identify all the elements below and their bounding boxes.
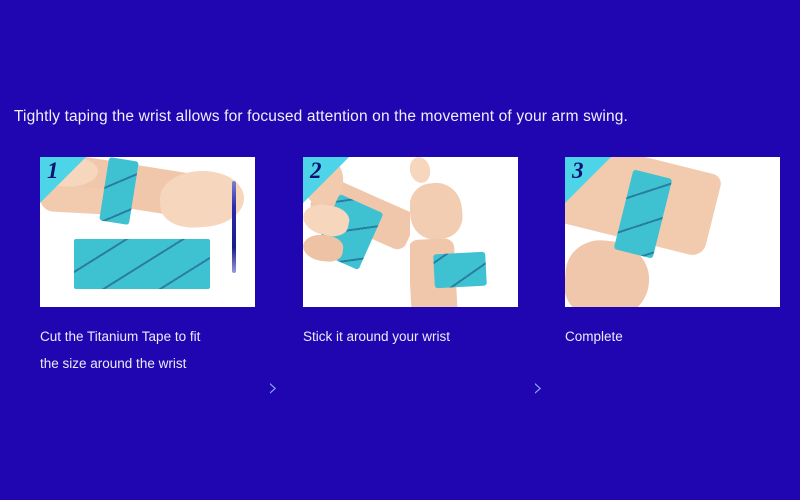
step-2-caption: Stick it around your wrist: [303, 323, 533, 350]
tape-strip-flat: [74, 239, 210, 289]
fist-shape: [410, 180, 465, 241]
step-2-photo-right: [410, 157, 518, 307]
step-strip: 1 Cut the Titanium Tape to fit the size …: [0, 157, 800, 387]
step-3-photo: 3: [565, 157, 780, 307]
chevron-right-icon: ›: [268, 375, 278, 401]
step-1-caption: Cut the Titanium Tape to fit the size ar…: [40, 323, 270, 377]
caption-line: Complete: [565, 323, 795, 350]
step-2-photo-left: [303, 157, 410, 307]
step-3-caption: Complete: [565, 323, 795, 350]
tape-band-on-wrist: [433, 252, 487, 289]
page-title: Tightly taping the wrist allows for focu…: [14, 108, 628, 126]
chevron-right-icon: ›: [533, 375, 543, 401]
marker-pen-shape: [232, 181, 236, 273]
step-2-photo: 2: [303, 157, 518, 307]
caption-line: Cut the Titanium Tape to fit: [40, 323, 270, 350]
step-item-3: 3 Complete: [565, 157, 780, 350]
step-item-2: 2 Stick it around your wrist: [303, 157, 518, 350]
caption-line: the size around the wrist: [40, 350, 270, 377]
step-item-1: 1 Cut the Titanium Tape to fit the size …: [40, 157, 255, 377]
thumb-shape: [410, 157, 433, 185]
caption-line: Stick it around your wrist: [303, 323, 533, 350]
step-1-photo: 1: [40, 157, 255, 307]
